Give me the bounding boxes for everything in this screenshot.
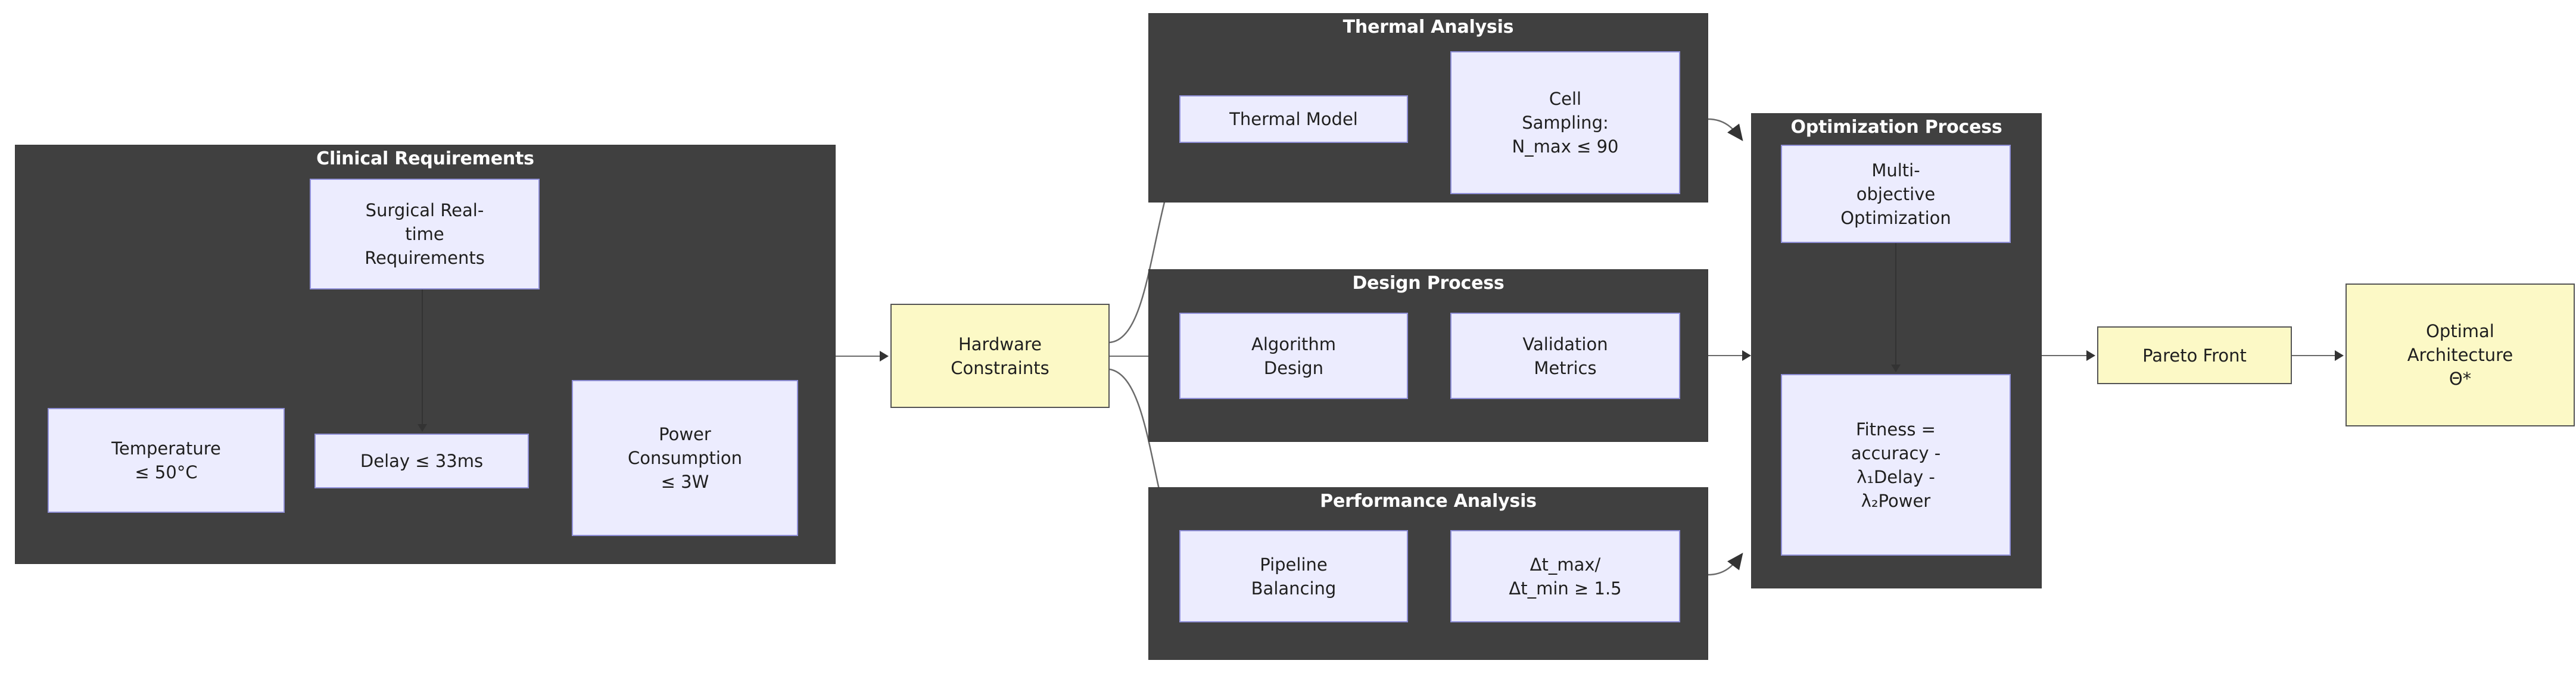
arrowhead-pareto-to-optimal <box>2335 350 2344 361</box>
node-multi-objective-optimization[interactable]: Multi- objective Optimization <box>1781 145 2011 243</box>
connector-clinical-to-hardware <box>836 356 883 357</box>
node-optimal-architecture[interactable]: Optimal Architecture Θ* <box>2346 284 2575 426</box>
arrowhead-surgical-to-delay <box>418 424 427 432</box>
node-cell-sampling[interactable]: Cell Sampling: N_max ≤ 90 <box>1450 51 1680 194</box>
cluster-title-optimization: Optimization Process <box>1752 117 2041 138</box>
arrowhead-design-to-optimization <box>1742 350 1751 361</box>
edge-thermal-to-optimization <box>1708 119 1742 140</box>
arrowhead-optimization-to-pareto <box>2086 350 2095 361</box>
node-temperature[interactable]: Temperature ≤ 50°C <box>48 408 285 513</box>
node-pipeline-balancing[interactable]: Pipeline Balancing <box>1179 530 1408 622</box>
node-hardware-constraints[interactable]: Hardware Constraints <box>890 304 1110 408</box>
cluster-title-performance: Performance Analysis <box>1149 491 1708 512</box>
arrowhead-multiobjective-to-fitness <box>1891 365 1901 372</box>
connector-multiobjective-to-fitness <box>1895 243 1896 366</box>
node-validation-metrics[interactable]: Validation Metrics <box>1450 313 1680 399</box>
node-surgical-realtime-requirements[interactable]: Surgical Real- time Requirements <box>310 179 540 289</box>
connector-pareto-to-optimal <box>2292 355 2338 356</box>
node-pareto-front[interactable]: Pareto Front <box>2097 326 2292 384</box>
node-thermal-model[interactable]: Thermal Model <box>1179 95 1408 143</box>
flowchart-canvas: Clinical Requirements Surgical Real- tim… <box>0 0 2576 676</box>
node-power-consumption[interactable]: Power Consumption ≤ 3W <box>572 380 798 536</box>
node-delay[interactable]: Delay ≤ 33ms <box>314 434 529 488</box>
cluster-title-design: Design Process <box>1149 273 1708 294</box>
node-delta-t-ratio[interactable]: Δt_max/ Δt_min ≥ 1.5 <box>1450 530 1680 622</box>
connector-surgical-to-delay <box>422 289 423 425</box>
connector-optimization-to-pareto <box>2042 355 2089 356</box>
node-algorithm-design[interactable]: Algorithm Design <box>1179 313 1408 399</box>
edge-performance-to-optimization <box>1708 554 1742 575</box>
cluster-title-clinical: Clinical Requirements <box>15 149 835 169</box>
node-fitness-function[interactable]: Fitness = accuracy - λ₁Delay - λ₂Power <box>1781 374 2011 556</box>
connector-design-to-optimization <box>1708 355 1747 356</box>
cluster-title-thermal: Thermal Analysis <box>1149 17 1708 38</box>
arrowhead-clinical-to-hardware <box>880 351 889 362</box>
